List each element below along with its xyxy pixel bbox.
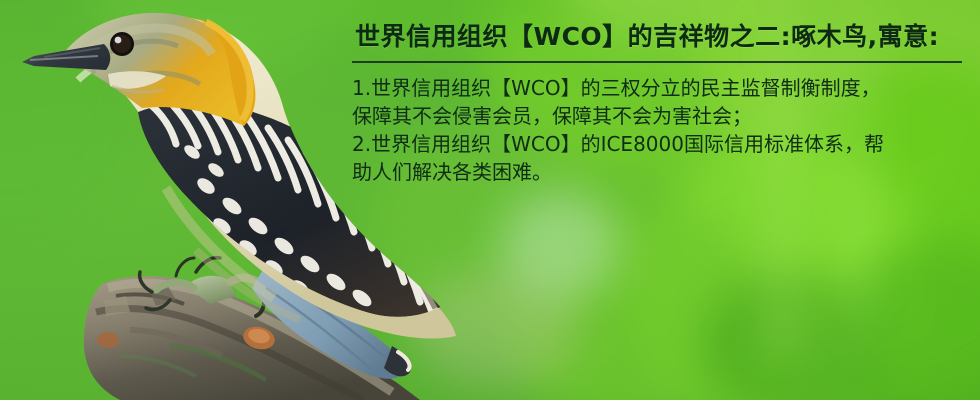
list-item-2-line-1: 2.世界信用组织【WCO】的ICE8000国际信用标准体系，帮: [352, 130, 968, 158]
title-divider: [352, 61, 962, 63]
list-item-2-line-2: 助人们解决各类困难。: [352, 158, 968, 186]
list-item-1-line-1: 1.世界信用组织【WCO】的三权分立的民主监督制衡制度，: [352, 74, 968, 102]
wco-mascot-banner: 世界信用组织【WCO】的吉祥物之二:啄木鸟,寓意: 1.世界信用组织【WCO】的…: [0, 0, 980, 400]
banner-text-panel: 世界信用组织【WCO】的吉祥物之二:啄木鸟,寓意: 1.世界信用组织【WCO】的…: [352, 22, 968, 186]
mascot-meaning-list: 1.世界信用组织【WCO】的三权分立的民主监督制衡制度， 保障其不会侵害会员，保…: [352, 74, 968, 186]
banner-title: 世界信用组织【WCO】的吉祥物之二:啄木鸟,寓意:: [355, 22, 968, 53]
list-item-1-line-2: 保障其不会侵害会员，保障其不会为害社会；: [352, 102, 968, 130]
